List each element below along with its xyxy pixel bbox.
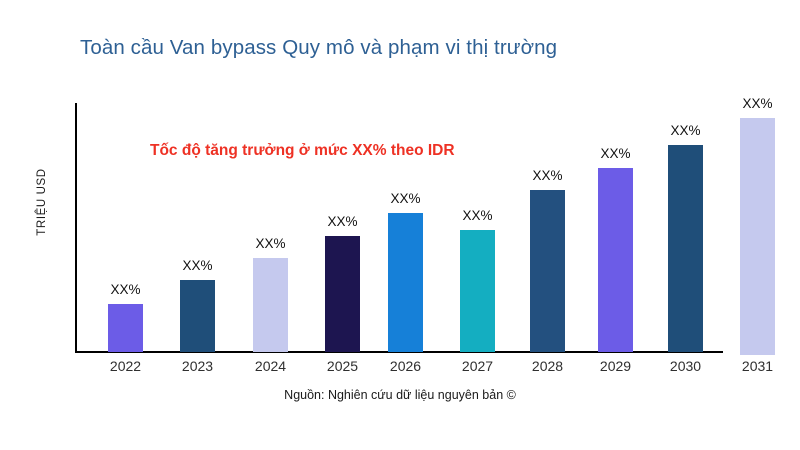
- x-tick-2027: 2027: [448, 358, 508, 374]
- bar-2027[interactable]: [460, 230, 495, 352]
- x-tick-2028: 2028: [518, 358, 578, 374]
- x-tick-2029: 2029: [586, 358, 646, 374]
- chart-title: Toàn cầu Van bypass Quy mô và phạm vi th…: [80, 36, 557, 60]
- bar-2022[interactable]: [108, 304, 143, 352]
- x-tick-2023: 2023: [168, 358, 228, 374]
- source-note: Nguồn: Nghiên cứu dữ liệu nguyên bản ©: [0, 388, 800, 402]
- bar-2030[interactable]: [668, 145, 703, 352]
- bar-2023[interactable]: [180, 280, 215, 352]
- y-axis-label: TRIỆU USD: [36, 147, 48, 257]
- bar-2024[interactable]: [253, 258, 288, 352]
- x-tick-2031: 2031: [728, 358, 788, 374]
- x-tick-2026: 2026: [376, 358, 436, 374]
- bar-value-label-2031: XX%: [728, 96, 788, 111]
- chart-container: Toàn cầu Van bypass Quy mô và phạm vi th…: [0, 0, 800, 450]
- growth-rate-annotation: Tốc độ tăng trưởng ở mức XX% theo IDR: [150, 142, 455, 160]
- bar-2026[interactable]: [388, 213, 423, 352]
- x-tick-2030: 2030: [656, 358, 716, 374]
- y-axis-line: [75, 103, 77, 353]
- x-tick-2025: 2025: [313, 358, 373, 374]
- bar-2029[interactable]: [598, 168, 633, 352]
- bar-2031[interactable]: [740, 118, 775, 355]
- bar-2028[interactable]: [530, 190, 565, 352]
- x-tick-2022: 2022: [96, 358, 156, 374]
- bar-2025[interactable]: [325, 236, 360, 352]
- x-tick-2024: 2024: [241, 358, 301, 374]
